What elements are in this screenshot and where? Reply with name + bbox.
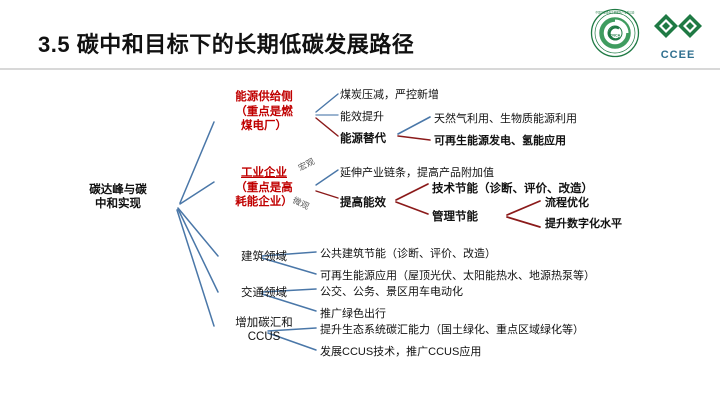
circular-seal-icon: CNCA 中国节能协会节能服务产业委员会 <box>590 8 640 58</box>
mid-node-technical-saving: 技术节能（诊断、评价、改造） <box>432 180 593 196</box>
energy-supply-line1: 能源供给侧 <box>212 90 316 105</box>
leaf-process-optimization: 流程优化 <box>545 196 589 210</box>
diamond-rhombus-icon <box>650 10 706 44</box>
ccee-logo: CCEE <box>650 10 706 60</box>
leaf-gas-biomass: 天然气利用、生物质能源利用 <box>434 112 577 126</box>
leaf-renewable-application: 可再生能源应用（屋顶光伏、太阳能热水、地源热泵等） <box>320 269 595 283</box>
root-node-line1: 碳达峰与碳 <box>62 183 174 197</box>
energy-supply-line2: （重点是燃 <box>212 105 316 120</box>
leaf-efficiency-improvement: 能效提升 <box>340 110 384 124</box>
leaf-green-travel: 推广绿色出行 <box>320 307 386 321</box>
slide-canvas: 3.5 碳中和目标下的长期低碳发展路径 CNCA 中国节能协会节能服务产业委员会 <box>0 0 720 409</box>
leaf-renewable-hydrogen: 可再生能源发电、氢能应用 <box>434 134 566 148</box>
root-node-line2: 中和实现 <box>62 197 174 211</box>
title-bar: 3.5 碳中和目标下的长期低碳发展路径 <box>38 28 558 62</box>
branch-node-carbon-sink: 增加碳汇和 CCUS <box>214 316 314 344</box>
leaf-digitalization: 提升数字化水平 <box>545 217 622 231</box>
branch-node-transport: 交通领域 <box>222 286 306 300</box>
leaf-ccus-tech: 发展CCUS技术，推广CCUS应用 <box>320 345 481 359</box>
leaf-industry-chain: 延伸产业链条，提高产品附加值 <box>340 166 494 180</box>
carbon-sink-line1: 增加碳汇和 <box>214 316 314 330</box>
svg-text:中国节能协会节能服务产业委员会: 中国节能协会节能服务产业委员会 <box>596 11 635 15</box>
mid-node-energy-substitution: 能源替代 <box>340 130 386 146</box>
mid-node-raise-efficiency: 提高能效 <box>340 194 386 210</box>
leaf-coal-reduction: 煤炭压减，严控新增 <box>340 88 439 102</box>
logo-group: CNCA 中国节能协会节能服务产业委员会 <box>590 8 710 62</box>
svg-text:CNCA: CNCA <box>610 34 621 38</box>
tree-diagram: 碳达峰与碳 中和实现 能源供给侧 （重点是燃 煤电厂） 煤炭压减，严控新增 能效… <box>0 70 720 409</box>
branch-node-building: 建筑领域 <box>222 250 306 264</box>
root-node: 碳达峰与碳 中和实现 <box>62 183 174 211</box>
industry-line2: （重点是高 <box>212 181 316 196</box>
carbon-sink-line2: CCUS <box>214 330 314 344</box>
leaf-vehicle-electrification: 公交、公务、景区用车电动化 <box>320 285 463 299</box>
leaf-ecosystem-sink: 提升生态系统碳汇能力（国土绿化、重点区域绿化等） <box>320 323 584 337</box>
leaf-public-building-saving: 公共建筑节能（诊断、评价、改造） <box>320 247 496 261</box>
page-title: 3.5 碳中和目标下的长期低碳发展路径 <box>38 28 558 62</box>
branch-node-energy-supply: 能源供给侧 （重点是燃 煤电厂） <box>212 90 316 134</box>
mid-node-management-saving: 管理节能 <box>432 208 478 224</box>
energy-supply-line3: 煤电厂） <box>212 119 316 134</box>
ccee-label: CCEE <box>650 49 706 61</box>
